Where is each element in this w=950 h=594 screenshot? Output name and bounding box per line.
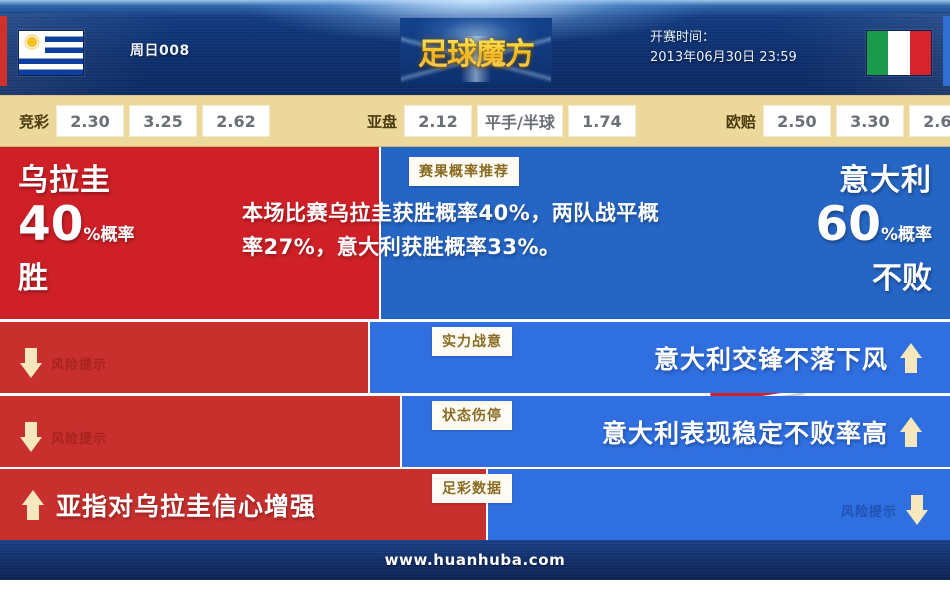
risk-note-strength-left-text: 风险提示 [51,354,107,373]
arrow-up-icon [22,490,44,520]
odds-value-jingcai-3[interactable]: 2.62 [202,105,270,137]
arrow-down-icon [20,422,42,452]
site-logo[interactable]: 足球魔方 [400,18,552,84]
odds-group-oupei: 欧赔 2.50 3.30 2.66 [719,105,950,137]
odds-value-jingcai-2[interactable]: 3.25 [129,105,197,137]
odds-value-yapan-2[interactable]: 平手/半球 [477,105,563,137]
arrow-down-icon [20,348,42,378]
arrow-up-icon [900,417,922,447]
risk-note-lottery-right-text: 风险提示 [841,501,897,520]
home-result-label: 胜 [18,261,134,297]
italy-red-band [910,31,931,75]
chip-probability-recommendation[interactable]: 赛果概率推荐 [409,157,519,186]
home-team-block: 乌拉圭 40%概率 胜 [18,163,134,297]
chip-strength-intent[interactable]: 实力战意 [432,327,512,356]
away-result-label: 不败 [816,261,932,297]
risk-note-strength-left: 风险提示 [20,348,107,378]
odds-value-yapan-3[interactable]: 1.74 [568,105,636,137]
away-probability-value: 60%概率 [816,199,932,261]
footer: www.huanhuba.com [0,540,950,580]
away-team-block: 意大利 60%概率 不败 [816,163,932,297]
highlight-lottery-left: 亚指对乌拉圭信心增强 [22,487,316,523]
home-probability-value: 40%概率 [18,199,134,261]
highlight-strength-right: 意大利交锋不落下风 [654,340,922,376]
highlight-strength-right-text: 意大利交锋不落下风 [654,340,888,376]
probability-summary: 本场比赛乌拉圭获胜概率40%，两队战平概率27%，意大利获胜概率33%。 [242,196,674,264]
risk-note-lottery-right: 风险提示 [841,495,928,525]
home-color-tab [0,16,7,86]
arrow-down-icon [906,495,928,525]
italy-white-band [888,31,909,75]
home-team-name: 乌拉圭 [18,163,134,199]
odds-bar: 竞彩 2.30 3.25 2.62 亚盘 2.12 平手/半球 1.74 欧赔 … [0,95,950,147]
odds-label-yapan: 亚盘 [367,111,397,132]
home-probability-unit: %概率 [83,225,134,245]
away-probability-number: 60 [816,197,881,252]
uruguay-flag-icon [18,30,84,76]
away-probability-unit: %概率 [881,225,932,245]
match-number: 周日008 [130,40,190,60]
highlight-form-right: 意大利表现稳定不败率高 [602,414,922,450]
header: 周日008 足球魔方 开赛时间： 2013年06月30日 23:59 [0,0,950,95]
away-color-tab [943,16,950,86]
highlight-lottery-left-text: 亚指对乌拉圭信心增强 [56,487,316,523]
italy-flag-icon [866,30,932,76]
footer-site-url[interactable]: www.huanhuba.com [385,551,566,569]
odds-group-yapan: 亚盘 2.12 平手/半球 1.74 [360,105,641,137]
away-team-name: 意大利 [816,163,932,199]
highlight-form-right-text: 意大利表现稳定不败率高 [602,414,888,450]
risk-note-form-left: 风险提示 [20,422,107,452]
arrow-up-icon [900,343,922,373]
chip-lottery-data[interactable]: 足彩数据 [432,474,512,503]
odds-value-oupei-3[interactable]: 2.66 [909,105,950,137]
match-preview-card: 周日008 足球魔方 开赛时间： 2013年06月30日 23:59 竞彩 2.… [0,0,950,594]
kickoff-label: 开赛时间： [650,28,840,48]
odds-value-oupei-2[interactable]: 3.30 [836,105,904,137]
site-logo-text: 足球魔方 [418,29,534,73]
bottom-strip [0,580,950,594]
italy-green-band [867,31,888,75]
odds-label-jingcai: 竞彩 [19,111,49,132]
kickoff-block: 开赛时间： 2013年06月30日 23:59 [650,28,840,68]
odds-group-jingcai: 竞彩 2.30 3.25 2.62 [12,105,275,137]
odds-label-oupei: 欧赔 [726,111,756,132]
odds-value-jingcai-1[interactable]: 2.30 [56,105,124,137]
uruguay-sun-icon [26,36,38,48]
kickoff-value: 2013年06月30日 23:59 [650,48,840,68]
home-probability-number: 40 [18,197,83,252]
risk-note-form-left-text: 风险提示 [51,428,107,447]
odds-value-oupei-1[interactable]: 2.50 [763,105,831,137]
odds-value-yapan-1[interactable]: 2.12 [404,105,472,137]
chip-form-injury[interactable]: 状态伤停 [432,401,512,430]
